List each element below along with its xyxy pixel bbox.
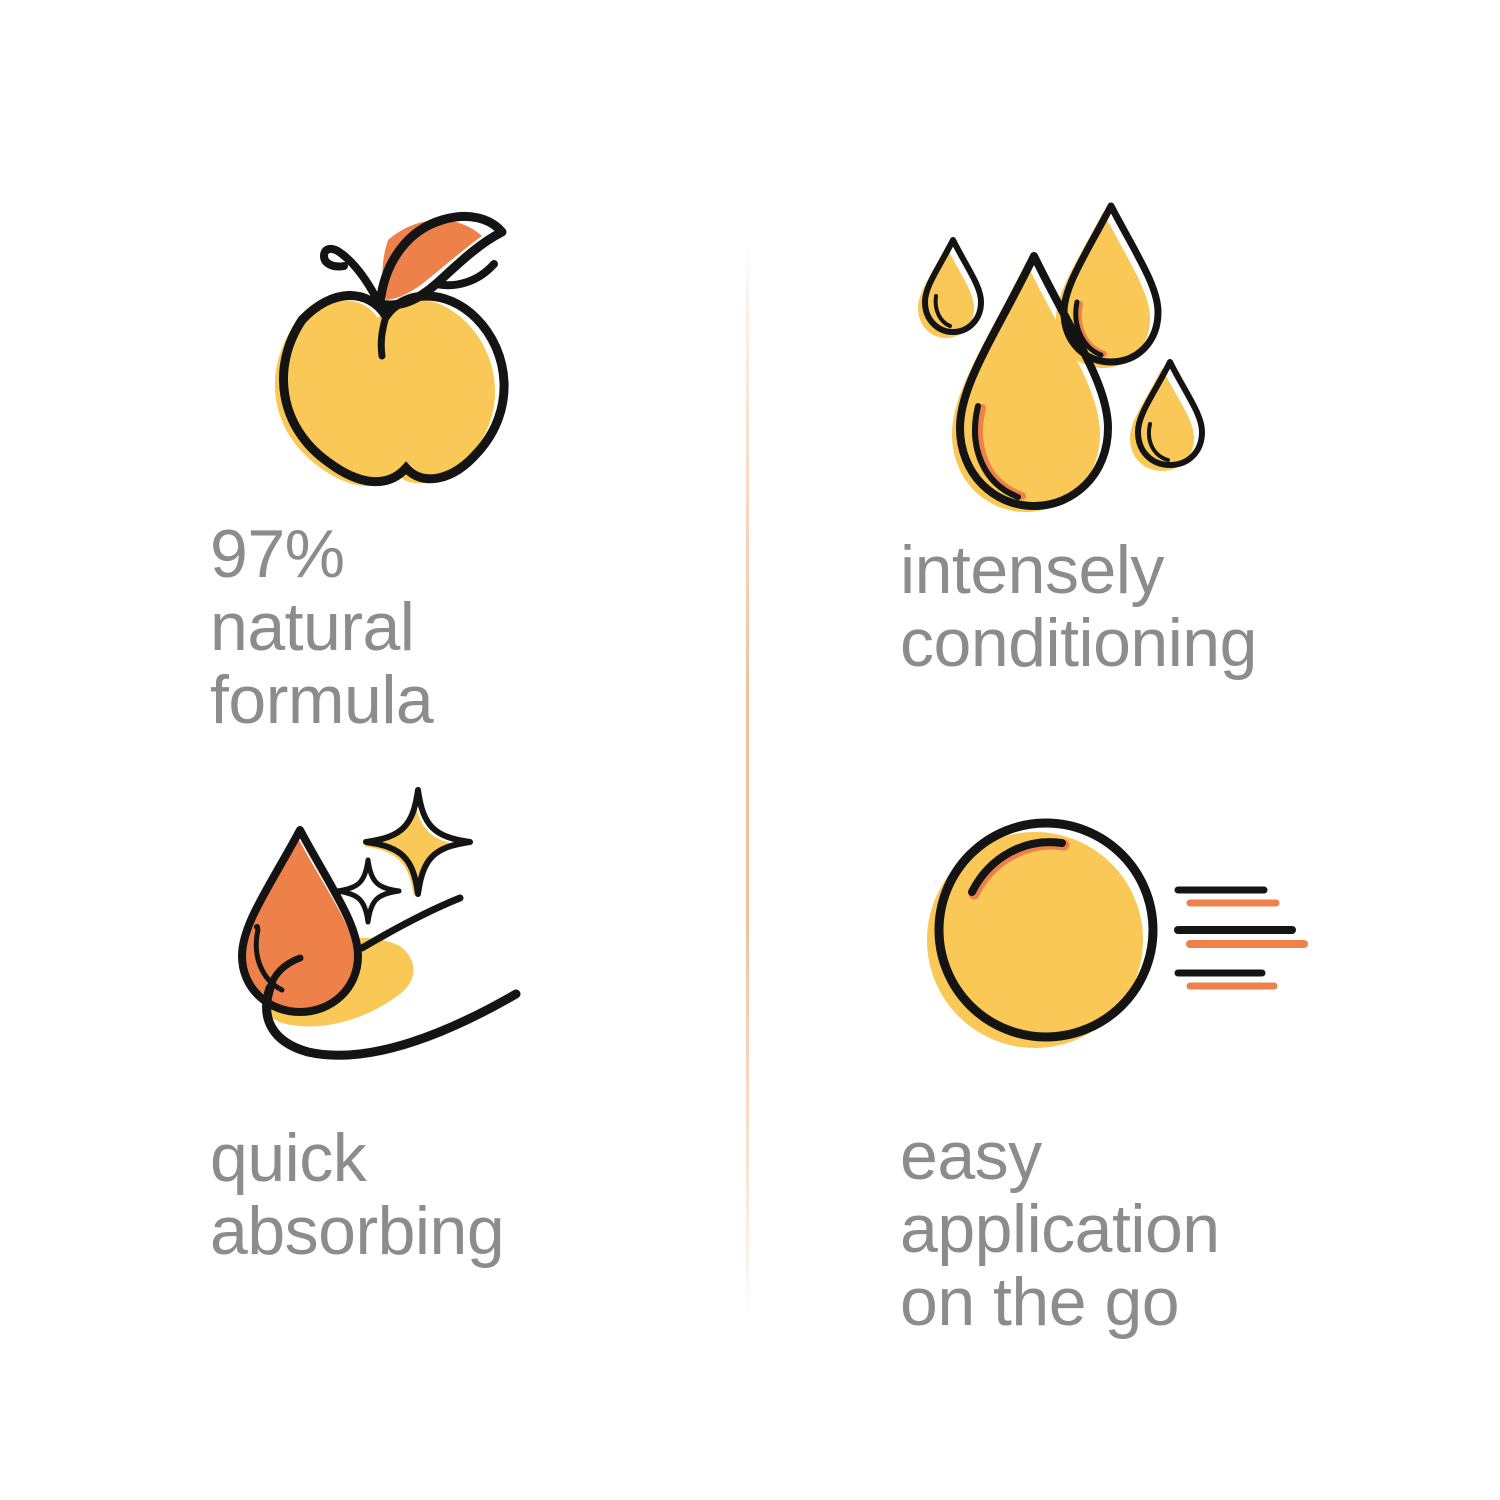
feature-caption-intensely-conditioning: intensely conditioning [900, 534, 1500, 680]
feature-caption-easy-application: easy application on the go [900, 1120, 1500, 1338]
speed-line-top [1178, 890, 1276, 903]
feature-card-natural-formula: 97% natural formula [210, 200, 850, 736]
speed-line-middle [1178, 930, 1304, 944]
feature-caption-natural-formula: 97% natural formula [210, 518, 850, 736]
rolling-ball-speed-icon [900, 790, 1500, 1090]
speed-line-bottom [1178, 973, 1274, 986]
droplet-on-hand-sparkle-icon [210, 770, 850, 1070]
feature-caption-quick-absorbing: quick absorbing [210, 1122, 850, 1268]
droplet-upper-right [1056, 206, 1158, 368]
droplet-small-lower-right [1130, 362, 1202, 471]
droplet-small-upper-left [918, 240, 981, 338]
droplet-shine-dot [254, 924, 260, 930]
infographic-page: 97% natural formula [0, 0, 1500, 1500]
oil-droplets-icon [900, 200, 1500, 500]
feature-card-quick-absorbing: quick absorbing [210, 770, 850, 1268]
speed-lines [1178, 890, 1304, 986]
feature-card-easy-application: easy application on the go [900, 790, 1500, 1338]
hand-upper-edge [362, 898, 460, 948]
feature-card-intensely-conditioning: intensely conditioning [900, 200, 1500, 680]
peach-icon [210, 200, 850, 500]
